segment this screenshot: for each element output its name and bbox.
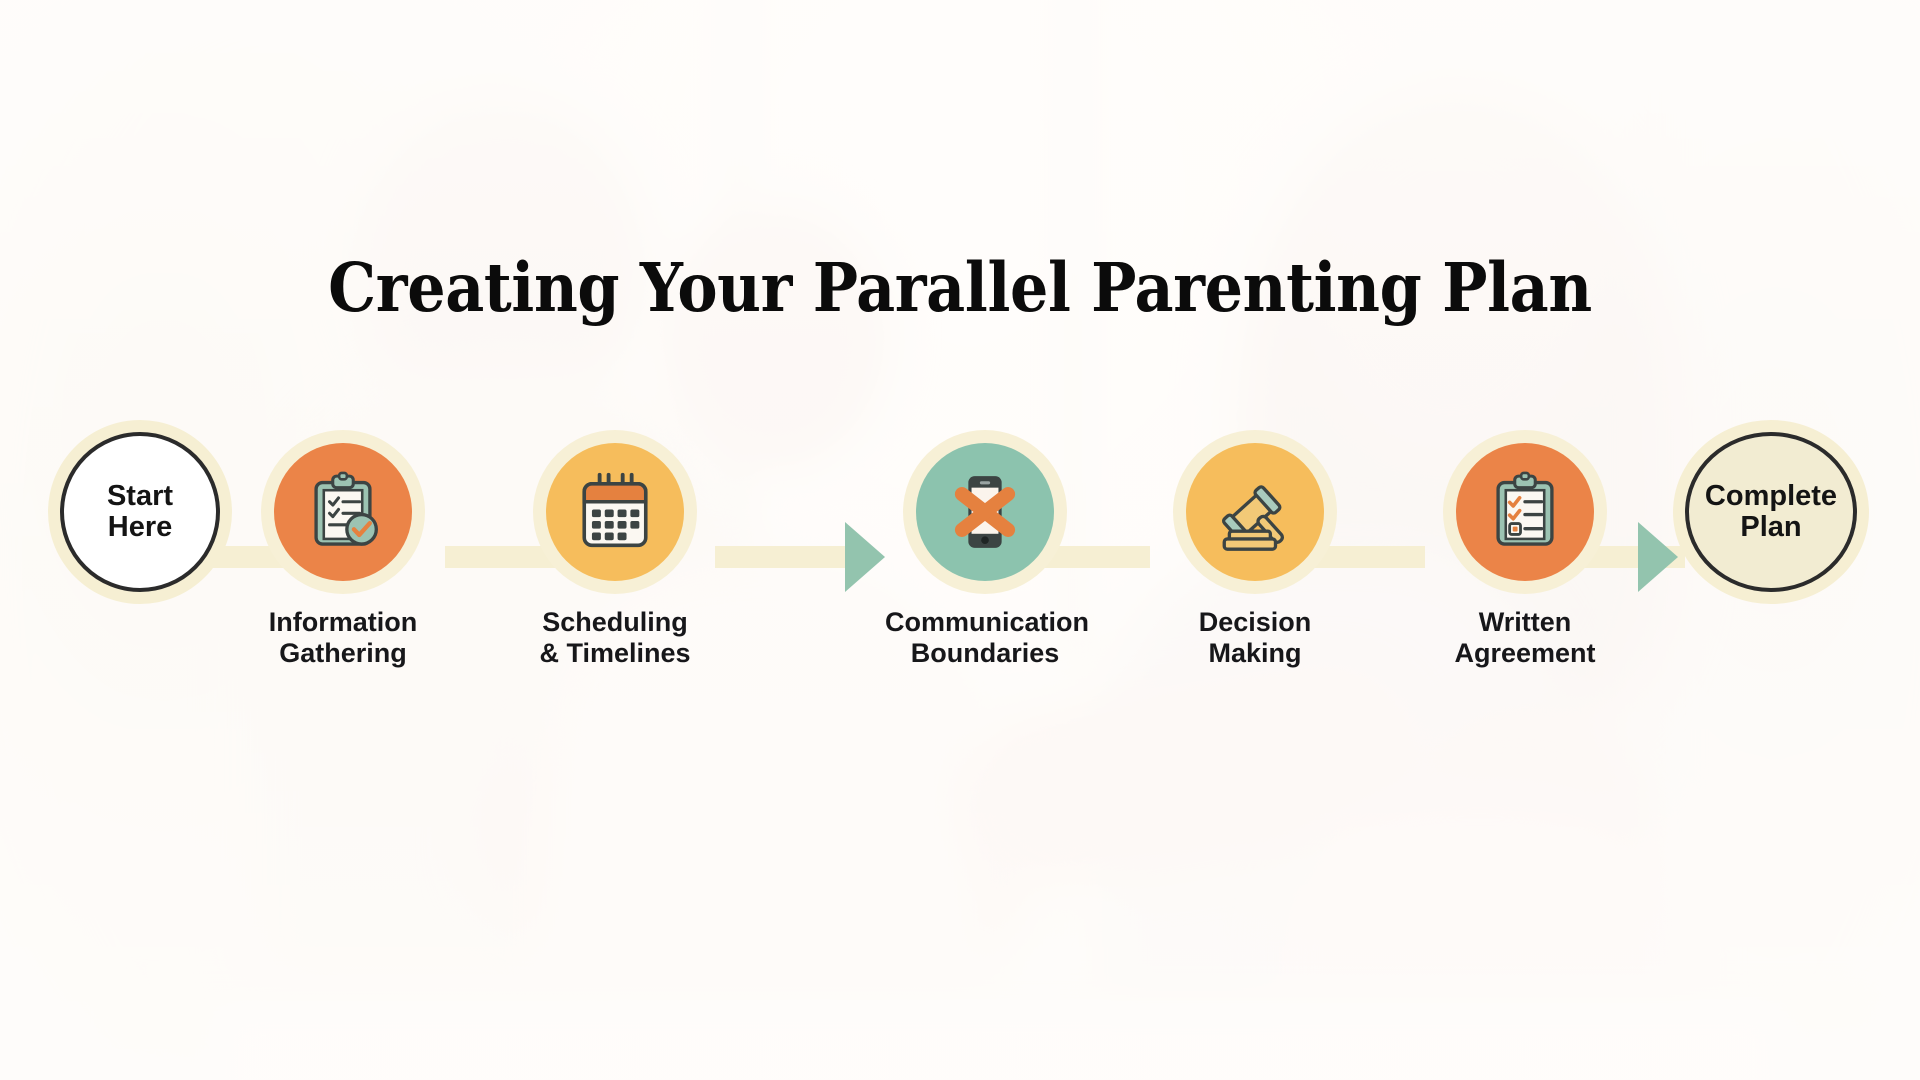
phone-blocked-icon [944, 471, 1026, 553]
gavel-icon [1214, 471, 1296, 553]
step-5-circle[interactable] [1456, 443, 1594, 581]
step-2-circle[interactable] [546, 443, 684, 581]
step-5-label: Written Agreement [1425, 607, 1625, 670]
flow-arrow-icon [1638, 522, 1678, 592]
step-5-label-line2: Agreement [1425, 638, 1625, 669]
step-1-label: Information Gathering [243, 607, 443, 670]
step-3-label-line2: Boundaries [885, 638, 1085, 669]
step-4-label: Decision Making [1155, 607, 1355, 670]
flow-step-decision-making[interactable]: Decision Making [1155, 432, 1355, 670]
flow-arrow-icon [845, 522, 885, 592]
complete-label-line2: Plan [1740, 512, 1801, 543]
step-3-label-line1: Communication [885, 607, 1085, 638]
flow-node-complete[interactable]: Complete Plan [1685, 432, 1860, 592]
start-label-line2: Here [108, 512, 173, 543]
start-here-marker[interactable]: Start Here [60, 432, 220, 592]
flow-node-start[interactable]: Start Here [60, 432, 230, 592]
start-label-line1: Start [107, 481, 173, 512]
step-4-label-line2: Making [1155, 638, 1355, 669]
step-2-label-line1: Scheduling [515, 607, 715, 638]
flow-step-scheduling-timelines[interactable]: Scheduling & Timelines [515, 432, 715, 670]
connector-line [715, 546, 855, 568]
step-1-circle[interactable] [274, 443, 412, 581]
step-3-label: Communication Boundaries [885, 607, 1085, 670]
complete-label-line1: Complete [1705, 481, 1837, 512]
step-1-label-line2: Gathering [243, 638, 443, 669]
step-1-label-line1: Information [243, 607, 443, 638]
flow-step-written-agreement[interactable]: Written Agreement [1425, 432, 1625, 670]
clipboard-check-icon [302, 471, 384, 553]
page-title: Creating Your Parallel Parenting Plan [96, 248, 1824, 327]
step-2-label-line2: & Timelines [515, 638, 715, 669]
complete-plan-marker[interactable]: Complete Plan [1685, 432, 1857, 592]
step-4-circle[interactable] [1186, 443, 1324, 581]
flow-step-information-gathering[interactable]: Information Gathering [243, 432, 443, 670]
calendar-icon [574, 471, 656, 553]
parenting-plan-flow: Start Here [0, 432, 1920, 732]
flow-step-communication-boundaries[interactable]: Communication Boundaries [885, 432, 1085, 670]
step-2-label: Scheduling & Timelines [515, 607, 715, 670]
checklist-icon [1484, 471, 1566, 553]
step-3-circle[interactable] [916, 443, 1054, 581]
step-5-label-line1: Written [1425, 607, 1625, 638]
step-4-label-line1: Decision [1155, 607, 1355, 638]
